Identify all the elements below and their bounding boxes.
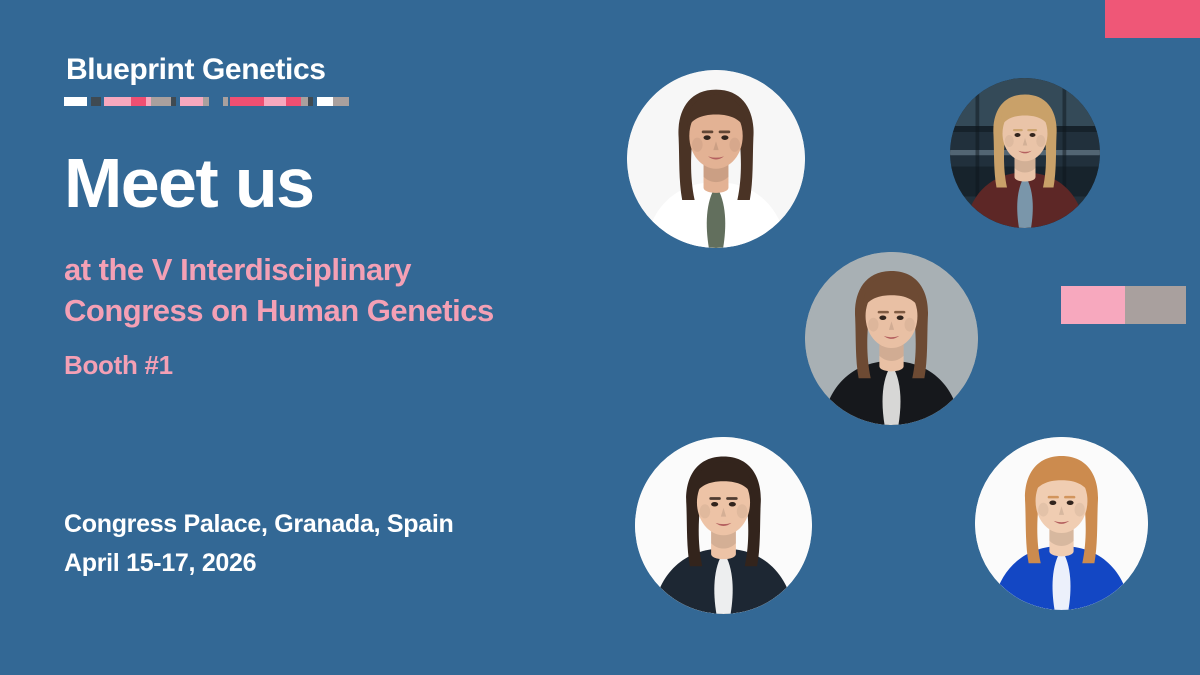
venue-location: Congress Palace, Granada, Spain (64, 505, 453, 544)
event-subtitle-line-1: at the V Interdisciplinary (64, 250, 494, 291)
barcode-segment-15 (230, 97, 264, 106)
barcode-logo-mark (64, 97, 349, 106)
barcode-segment-10 (180, 97, 203, 106)
barcode-segment-0 (64, 97, 87, 106)
venue-details: Congress Palace, Granada, Spain April 15… (64, 505, 453, 583)
event-subtitle-line-2: Congress on Human Genetics (64, 291, 494, 332)
brand-logo: Blueprint Genetics (64, 55, 484, 106)
event-subtitle: at the V Interdisciplinary Congress on H… (64, 250, 494, 332)
booth-number: Booth #1 (64, 350, 173, 381)
decorative-bar-right (1061, 286, 1186, 324)
barcode-segment-5 (131, 97, 146, 106)
decorative-bar-segment-gray (1125, 286, 1186, 324)
barcode-segment-4 (104, 97, 131, 106)
barcode-segment-12 (209, 97, 223, 106)
portrait-man-lab-coat (627, 70, 805, 248)
poster-canvas: Blueprint Genetics Meet us at the V Inte… (0, 0, 1200, 675)
portrait-woman-blue-blouse (975, 437, 1148, 610)
portrait-woman-navy-sweater (635, 437, 812, 614)
portrait-woman-burgundy-sweater (950, 78, 1100, 228)
brand-wordmark: Blueprint Genetics (66, 55, 484, 85)
barcode-segment-7 (151, 97, 171, 106)
barcode-segment-16 (264, 97, 286, 106)
barcode-segment-2 (91, 97, 101, 106)
barcode-segment-17 (286, 97, 302, 106)
venue-dates: April 15-17, 2026 (64, 544, 453, 583)
page-title: Meet us (64, 148, 313, 218)
barcode-segment-22 (333, 97, 349, 106)
decorative-block-top-right (1105, 0, 1200, 38)
barcode-segment-21 (317, 97, 333, 106)
decorative-bar-segment-pink (1061, 286, 1125, 324)
portrait-woman-black-blazer (805, 252, 978, 425)
